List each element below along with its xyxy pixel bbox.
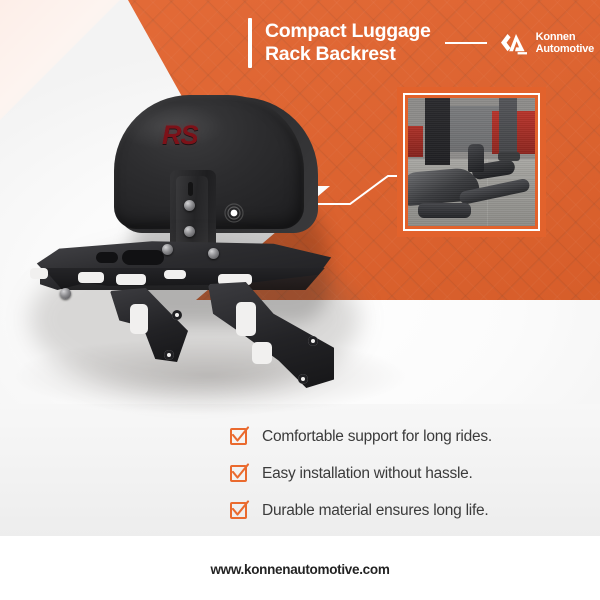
brand-name-line-1: Konnen	[536, 31, 595, 44]
product-image: RS	[12, 92, 382, 412]
title-accent-bar	[248, 18, 252, 68]
bracket-bolt-lower	[184, 226, 195, 237]
title-line-1: Compact Luggage	[265, 20, 431, 43]
rack-leg-right-cutout-lower	[252, 342, 272, 364]
inset-photo-border	[403, 93, 540, 231]
checkmark-glyph	[229, 425, 251, 447]
checkmark-glyph	[229, 462, 251, 484]
feature-item: Durable material ensures long life.	[230, 494, 580, 528]
brand-logo[interactable]: Konnen Automotive	[497, 31, 595, 56]
title-line-2: Rack Backrest	[265, 43, 431, 66]
konnen-chevron-icon	[497, 31, 529, 55]
rack-slot-right	[164, 270, 186, 279]
page-title: Compact Luggage Rack Backrest	[265, 20, 431, 66]
checkbox-checked-icon	[230, 502, 249, 521]
rack-slot-left	[78, 272, 104, 283]
rack-slot-edge	[30, 268, 48, 279]
feature-text: Durable material ensures long life.	[262, 502, 488, 520]
checkbox-checked-icon	[230, 428, 249, 447]
rack-slot-mid	[116, 274, 146, 285]
rack-leg-right-cutout-upper	[236, 302, 256, 336]
bracket-bolt-upper	[184, 200, 195, 211]
header: Compact Luggage Rack Backrest Konnen Aut…	[248, 14, 592, 72]
rs-badge: RS	[162, 120, 198, 151]
checkbox-checked-icon	[230, 465, 249, 484]
product-poster: Compact Luggage Rack Backrest Konnen Aut…	[0, 0, 600, 600]
rack-bolt-right	[208, 248, 219, 259]
rack-mount-hole-b	[164, 350, 174, 360]
logo-divider-rule	[445, 42, 487, 44]
bracket-slot-upper	[188, 182, 193, 196]
rack-mount-hole-a	[172, 310, 182, 320]
inset-photo-frame[interactable]	[397, 87, 546, 237]
feature-text: Easy installation without hassle.	[262, 465, 473, 483]
feature-item: Comfortable support for long rides.	[230, 420, 580, 454]
installed-product-photo	[408, 98, 535, 226]
callout-dot-marker	[224, 203, 244, 223]
feature-text: Comfortable support for long rides.	[262, 428, 492, 446]
rack-bolt-left	[162, 244, 173, 255]
checkmark-glyph	[229, 499, 251, 521]
feature-item: Easy installation without hassle.	[230, 457, 580, 491]
rack-mount-hole-d	[298, 374, 308, 384]
footer-website-url[interactable]: www.konnenautomotive.com	[0, 562, 600, 577]
rack-leg-left-cutout	[130, 304, 148, 334]
photo-grain-overlay	[408, 98, 535, 226]
rack-cutout-left	[96, 252, 118, 263]
rack-cutout-center	[122, 250, 164, 265]
feature-list: Comfortable support for long rides. Easy…	[230, 420, 580, 531]
rack-bolt-outer	[60, 288, 71, 299]
brand-logo-text: Konnen Automotive	[536, 31, 595, 56]
brand-name-line-2: Automotive	[536, 43, 595, 56]
rack-mount-hole-c	[308, 336, 318, 346]
